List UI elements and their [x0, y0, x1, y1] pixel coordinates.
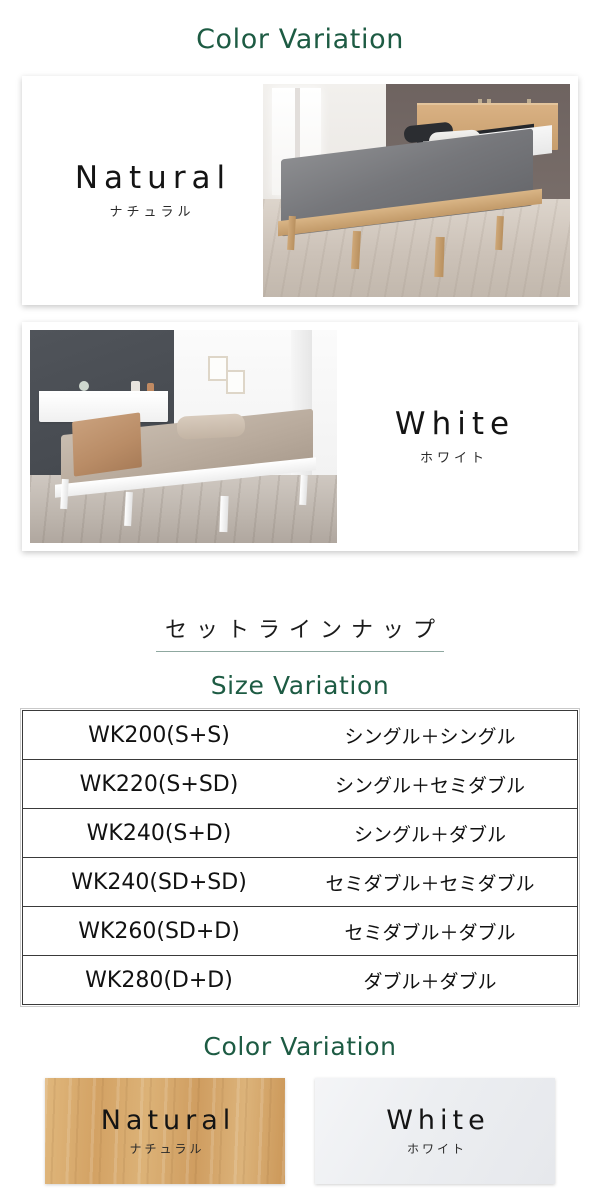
bottom-color-variation-title: Color Variation: [0, 1032, 600, 1061]
size-code: WK280(D+D): [23, 968, 295, 993]
set-lineup-title: セットラインナップ: [156, 612, 444, 652]
color-card-natural[interactable]: Natural ナチュラル: [22, 76, 578, 305]
color-name-jp-white: ホワイト: [332, 447, 572, 466]
throw-blanket: [72, 413, 141, 478]
pillow: [177, 413, 246, 440]
table-row: WK240(SD+SD) セミダブル＋セミダブル: [23, 858, 577, 907]
size-code: WK260(SD+D): [23, 919, 295, 944]
size-description: シングル＋シングル: [295, 722, 577, 749]
size-description: セミダブル＋ダブル: [295, 918, 577, 945]
size-code: WK240(SD+SD): [23, 870, 295, 895]
natural-bed-photo: [263, 84, 570, 297]
table-row: WK280(D+D) ダブル＋ダブル: [23, 956, 577, 1005]
color-name-jp-natural: ナチュラル: [30, 201, 270, 220]
size-description: セミダブル＋セミダブル: [295, 869, 577, 896]
size-variation-table: WK200(S+S) シングル＋シングル WK220(S+SD) シングル＋セミ…: [20, 708, 580, 1007]
size-code: WK200(S+S): [23, 723, 295, 748]
color-card-natural-label: Natural ナチュラル: [30, 161, 270, 221]
size-variation-table-inner: WK200(S+S) シングル＋シングル WK220(S+SD) シングル＋セミ…: [22, 710, 578, 1005]
size-description: シングル＋セミダブル: [295, 771, 577, 798]
white-bed-photo: [30, 330, 337, 543]
color-swatch-white[interactable]: White ホワイト: [315, 1078, 555, 1184]
size-code: WK240(S+D): [23, 821, 295, 846]
bed-leg: [287, 216, 296, 250]
table-row: WK200(S+S) シングル＋シングル: [23, 711, 577, 760]
set-lineup-heading-wrap: セットラインナップ: [0, 612, 600, 652]
bed-leg: [60, 479, 68, 509]
table-row: WK240(S+D) シングル＋ダブル: [23, 809, 577, 858]
color-name-en-natural: Natural: [30, 161, 270, 197]
color-swatch-natural[interactable]: Natural ナチュラル: [45, 1078, 285, 1184]
table-row: WK220(S+SD) シングル＋セミダブル: [23, 760, 577, 809]
bed-leg: [434, 237, 444, 278]
swatch-name-jp-natural: ナチュラル: [125, 1140, 204, 1157]
color-name-en-white: White: [332, 407, 572, 443]
color-card-white[interactable]: White ホワイト: [22, 322, 578, 551]
swatch-name-en-natural: Natural: [95, 1105, 236, 1136]
size-description: シングル＋ダブル: [295, 820, 577, 847]
color-card-white-label: White ホワイト: [332, 407, 572, 467]
page-title-color-variation: Color Variation: [0, 24, 600, 55]
white-bedroom-scene: [30, 330, 337, 543]
wall-art-frame: [208, 356, 228, 382]
size-description: ダブル＋ダブル: [295, 967, 577, 994]
product-color-variation-page: Color Variation Natural ナチュラル: [0, 0, 600, 1200]
table-row: WK260(SD+D) セミダブル＋ダブル: [23, 907, 577, 956]
wall-art-frame: [226, 370, 244, 393]
swatch-name-en-white: White: [380, 1105, 490, 1136]
natural-bedroom-scene: [263, 84, 570, 297]
swatch-name-jp-white: ホワイト: [403, 1140, 467, 1157]
size-code: WK220(S+SD): [23, 772, 295, 797]
size-variation-title: Size Variation: [0, 671, 600, 700]
